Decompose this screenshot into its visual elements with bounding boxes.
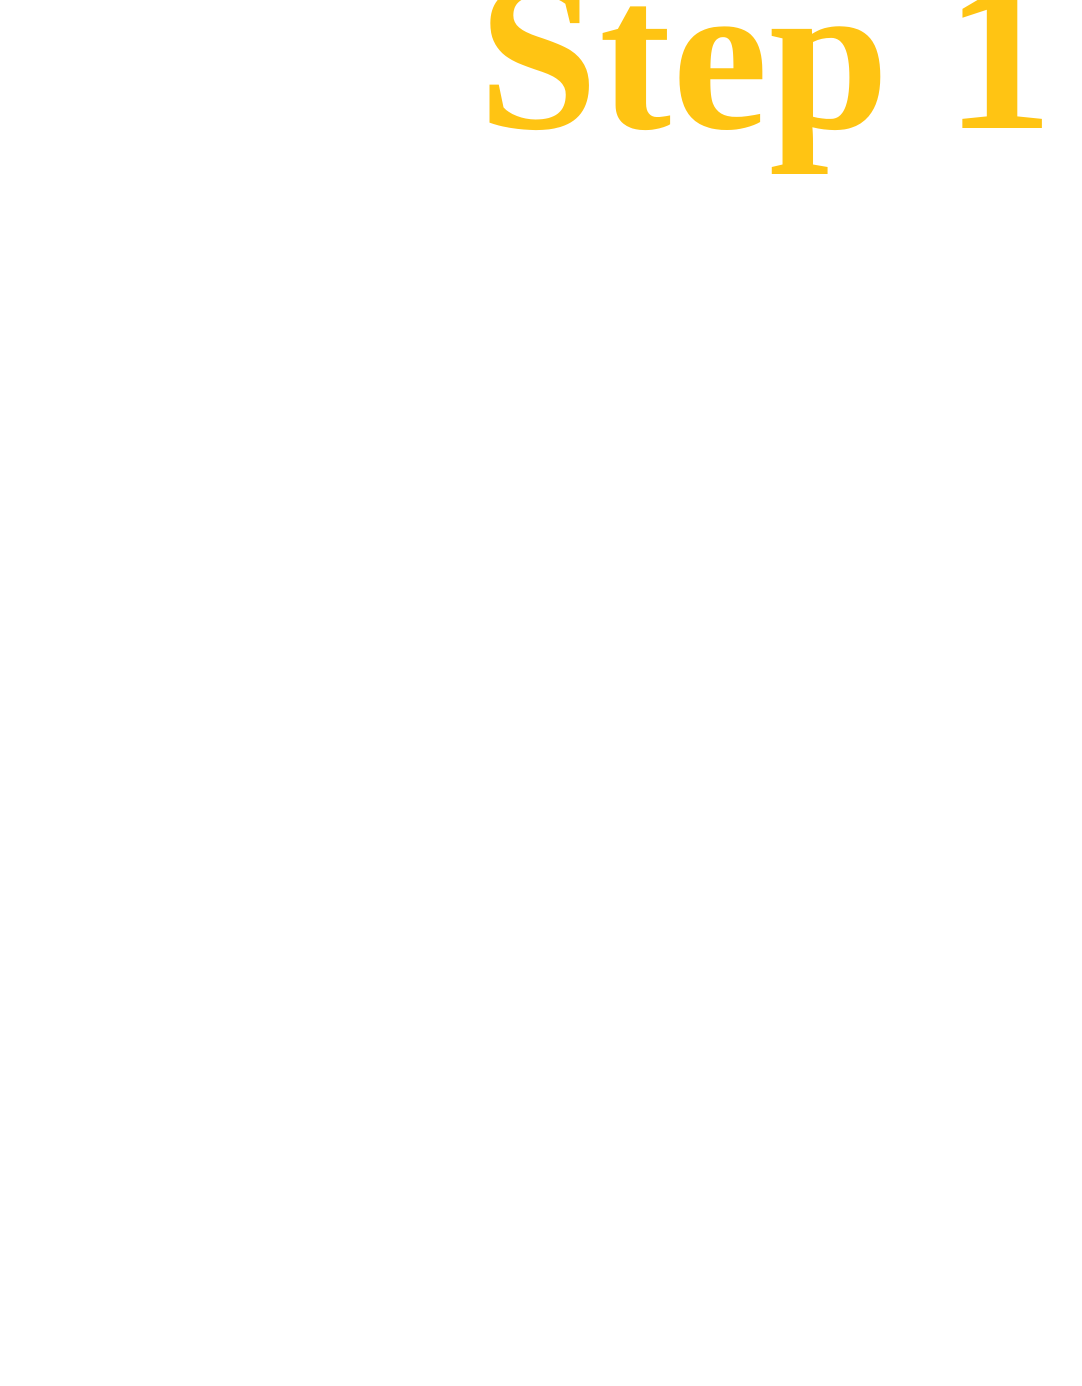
slide-canvas: Step 1 [0, 0, 1082, 1386]
empty-content-area [0, 205, 1082, 1386]
page-title: Step 1 [478, 0, 1054, 164]
